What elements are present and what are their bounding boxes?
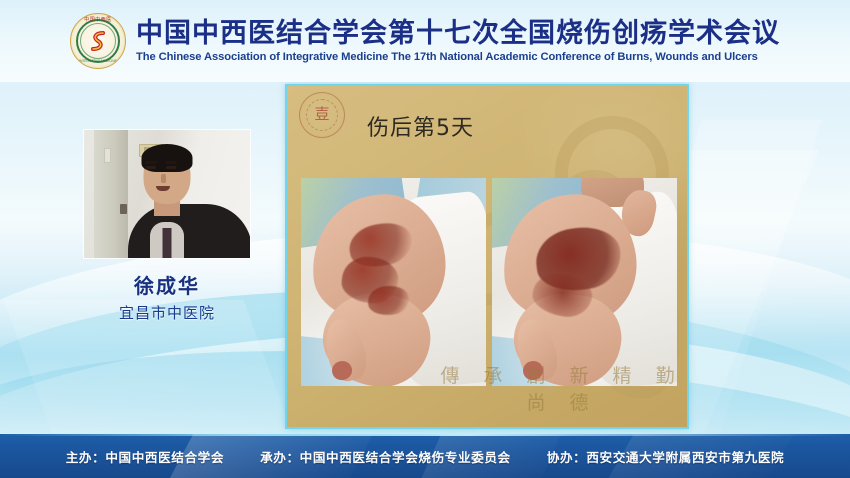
presentation-slide-frame[interactable]: 壴 伤后第5天 xyxy=(285,84,689,429)
hospital-seal-icon: 壴 xyxy=(299,92,345,138)
webcam-door-handle xyxy=(120,204,127,214)
conference-title-block: 中国中西医结合学会第十七次全国烧伤创疡学术会议 The Chinese Asso… xyxy=(136,19,780,62)
clinical-photo-right[interactable] xyxy=(492,178,677,386)
webcam-wall-plate xyxy=(104,148,111,163)
slide-watermark: 傳 承 創 新 精 勤 尚 德 xyxy=(287,361,687,415)
footer-host: 承办：中国中西医结合学会烧伤专业委员会 xyxy=(260,447,511,466)
slide-title: 伤后第5天 xyxy=(367,110,474,142)
conference-footer: 主办：中国中西医结合学会 承办：中国中西医结合学会烧伤专业委员会 协办：西安交通… xyxy=(0,434,850,478)
clinical-photo-left[interactable] xyxy=(301,178,486,386)
broadcast-stage: 中国中西医 INTEGRATIVE MEDICINE 中国中西医结合学会第十七次… xyxy=(0,0,850,478)
emblem-s-curve-icon xyxy=(88,30,108,52)
seal-glyph: 壴 xyxy=(300,107,344,122)
speaker-brow-left xyxy=(145,161,157,164)
speaker-brow-right xyxy=(165,161,177,164)
speaker-webcam-feed[interactable] xyxy=(84,130,250,258)
speaker-eye-right xyxy=(166,166,176,169)
clinical-photo-row xyxy=(301,178,677,386)
footer-content: 主办：中国中西医结合学会 承办：中国中西医结合学会烧伤专业委员会 协办：西安交通… xyxy=(0,434,850,478)
conference-title-cn: 中国中西医结合学会第十七次全国烧伤创疡学术会议 xyxy=(136,19,780,47)
conference-title-en: The Chinese Association of Integrative M… xyxy=(136,51,780,63)
presentation-slide: 壴 伤后第5天 xyxy=(287,86,687,427)
footer-co-organizer: 协办：西安交通大学附属西安市第九医院 xyxy=(547,447,785,466)
association-emblem-icon: 中国中西医 INTEGRATIVE MEDICINE xyxy=(70,13,126,69)
webcam-background-door xyxy=(94,130,128,258)
speaker-tie xyxy=(163,228,172,258)
footer-organizer: 主办：中国中西医结合学会 xyxy=(66,447,224,466)
speaker-affiliation: 宜昌市中医院 xyxy=(72,302,262,323)
speaker-nose xyxy=(161,174,166,183)
speaker-torso xyxy=(128,204,250,258)
speaker-name: 徐成华 xyxy=(72,270,262,299)
emblem-top-text: 中国中西医 xyxy=(71,18,125,23)
conference-header: 中国中西医 INTEGRATIVE MEDICINE 中国中西医结合学会第十七次… xyxy=(0,0,850,82)
emblem-bottom-text: INTEGRATIVE MEDICINE xyxy=(71,60,125,63)
speaker-eye-left xyxy=(146,166,156,169)
speaker-panel: 徐成华 宜昌市中医院 xyxy=(72,130,262,323)
